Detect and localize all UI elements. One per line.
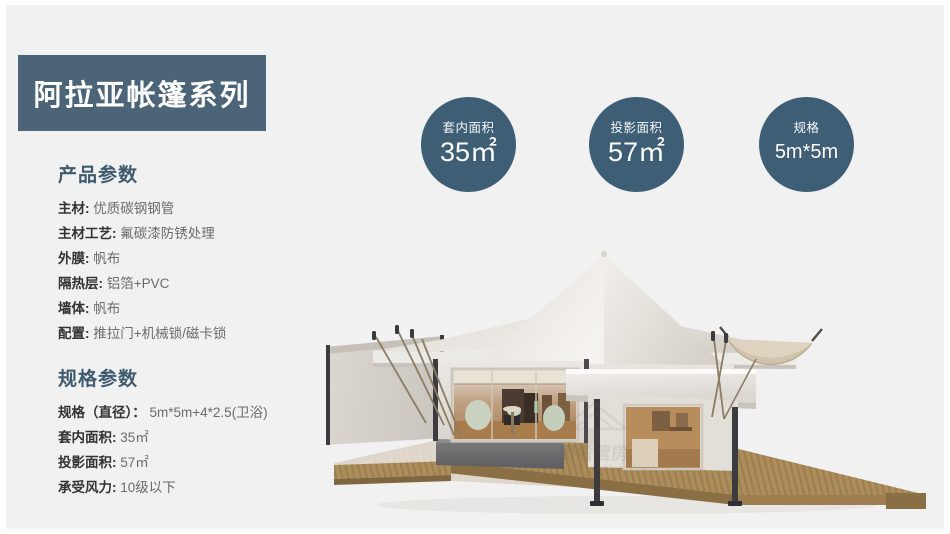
- spec-row: 承受风力: 10级以下: [58, 475, 358, 500]
- spec-list-product-parameters: 主材: 优质碳钢钢管 主材工艺: 氟碳漆防锈处理 外膜: 帆布 隔热层: 铝箔+…: [58, 196, 358, 346]
- stat-badge-interior-area: 套内面积 35㎡: [421, 97, 516, 192]
- watermark-text: 野奢营房: [560, 443, 628, 464]
- stone-base: [436, 439, 564, 469]
- title-banner: 阿拉亚帐篷系列: [18, 55, 266, 131]
- stat-badge-label: 投影面积: [610, 121, 662, 136]
- spec-value: 氟碳漆防锈处理: [120, 226, 215, 241]
- spec-value: 推拉门+机械锁/磁卡锁: [93, 326, 226, 341]
- spec-row: 投影面积: 57㎡: [58, 450, 358, 475]
- page-title: 阿拉亚帐篷系列: [33, 72, 250, 114]
- product-spec-page: 阿拉亚帐篷系列 产品参数 主材: 优质碳钢钢管 主材工艺: 氟碳漆防锈处理: [0, 0, 950, 534]
- stat-badge-dimensions: 规格 5m*5m: [759, 97, 854, 192]
- spec-label: 外膜:: [58, 251, 90, 266]
- section-heading-product-parameters: 产品参数: [58, 160, 358, 187]
- spec-label: 隔热层:: [58, 276, 103, 291]
- spec-row: 主材工艺: 氟碳漆防锈处理: [58, 221, 358, 246]
- spec-value: 5m*5m+4*2.5(卫浴): [150, 405, 268, 420]
- spec-row: 外膜: 帆布: [58, 246, 358, 271]
- spec-value: 帆布: [93, 301, 120, 316]
- watermark-subtext: LUXE TENT: [563, 464, 626, 473]
- spec-label: 主材:: [58, 201, 90, 216]
- spec-value: 帆布: [93, 251, 120, 266]
- stat-badge-label: 规格: [793, 121, 819, 136]
- stat-badge-value: 57㎡: [608, 137, 665, 168]
- spec-row: 套内面积: 35㎡: [58, 425, 358, 450]
- spec-list-specification-parameters: 规格（直径）： 5m*5m+4*2.5(卫浴) 套内面积: 35㎡ 投影面积: …: [58, 400, 358, 500]
- spec-row: 主材: 优质碳钢钢管: [58, 196, 358, 221]
- spec-value: 10级以下: [120, 480, 176, 495]
- spec-row: 墙体: 帆布: [58, 296, 358, 321]
- spec-label: 主材工艺:: [58, 226, 117, 241]
- stat-badge-value: 35㎡: [440, 137, 497, 168]
- spec-label: 规格（直径）：: [58, 405, 146, 420]
- spec-label: 套内面积:: [58, 430, 117, 445]
- tent-render-svg: 野奢营房 LUXE TENT: [326, 243, 950, 533]
- spec-value: 铝箔+PVC: [107, 276, 170, 291]
- stat-badge-projected-area: 投影面积 57㎡: [589, 97, 684, 192]
- spec-label: 墙体:: [58, 301, 90, 316]
- spec-value: 35㎡: [120, 430, 149, 445]
- stat-badge-value: 5m*5m: [775, 137, 838, 168]
- spec-label: 投影面积:: [58, 455, 117, 470]
- spec-value: 优质碳钢钢管: [93, 201, 174, 216]
- spec-row: 配置: 推拉门+机械锁/磁卡锁: [58, 321, 358, 346]
- section-heading-specification-parameters: 规格参数: [58, 364, 358, 391]
- guy-wire-caps: [372, 325, 414, 340]
- stat-badge-label: 套内面积: [442, 121, 494, 136]
- tent-product-image: 野奢营房 LUXE TENT: [326, 243, 950, 533]
- spec-row: 隔热层: 铝箔+PVC: [58, 271, 358, 296]
- spec-label: 配置:: [58, 326, 90, 341]
- spec-row: 规格（直径）： 5m*5m+4*2.5(卫浴): [58, 400, 358, 425]
- spec-label: 承受风力:: [58, 480, 117, 495]
- spec-group-product-parameters: 产品参数 主材: 优质碳钢钢管 主材工艺: 氟碳漆防锈处理 外膜: 帆布: [58, 160, 358, 346]
- spec-group-specification-parameters: 规格参数 规格（直径）： 5m*5m+4*2.5(卫浴) 套内面积: 35㎡ 投…: [58, 364, 358, 500]
- spec-value: 57㎡: [120, 455, 149, 470]
- glass-room: [433, 359, 589, 443]
- page-canvas: 阿拉亚帐篷系列 产品参数 主材: 优质碳钢钢管 主材工艺: 氟碳漆防锈处理: [6, 5, 944, 529]
- specification-column: 产品参数 主材: 优质碳钢钢管 主材工艺: 氟碳漆防锈处理 外膜: 帆布: [58, 160, 358, 500]
